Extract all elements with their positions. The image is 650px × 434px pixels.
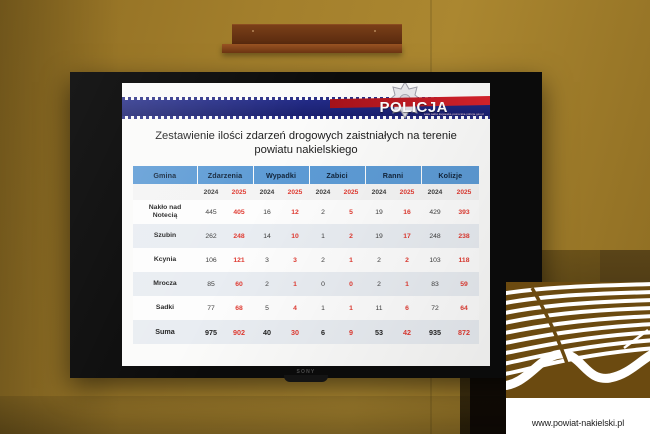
row-label-gmina: Sadki [133, 296, 197, 320]
cell-ranni_2024: 2 [365, 248, 393, 272]
cell-wypadki_2024: 2 [253, 272, 281, 296]
cell-kolizje_2025: 393 [449, 200, 479, 224]
col-header-gmina: Gmina [133, 166, 197, 184]
cell-ranni_2025: 2 [393, 248, 421, 272]
year-header-ranni-2024: 2024 [365, 184, 393, 200]
table-row: Mrocza85602100218359 [133, 272, 479, 296]
wall-mounted-television: POLICJA www.nakto.kujawsko-pomorska.poli… [70, 72, 542, 378]
cell-wypadki_2024: 14 [253, 224, 281, 248]
tv-mount-foot [284, 375, 328, 382]
cell-zdarzenia_2024: 445 [197, 200, 225, 224]
watermark-url: www.powiat-nakielski.pl [506, 418, 650, 428]
cell-kolizje_2024: 83 [421, 272, 449, 296]
shelf-screw-left [252, 30, 254, 32]
slide-title-line-1: Zestawienie ilości zdarzeń drogowych zai… [140, 129, 472, 143]
cell-kolizje_2024: 72 [421, 296, 449, 320]
powiat-nakielski-wave-logo [506, 282, 650, 398]
col-header-ranni: Ranni [365, 166, 421, 184]
cell-zabici_2024: 0 [309, 272, 337, 296]
cell-kolizje_2025: 872 [449, 320, 479, 344]
cell-kolizje_2024: 103 [421, 248, 449, 272]
shelf-lip [222, 44, 402, 53]
cell-zdarzenia_2025: 405 [225, 200, 253, 224]
year-header-zabici-2025: 2025 [337, 184, 365, 200]
cell-kolizje_2025: 118 [449, 248, 479, 272]
cell-kolizje_2024: 935 [421, 320, 449, 344]
cell-ranni_2025: 42 [393, 320, 421, 344]
cell-kolizje_2024: 429 [421, 200, 449, 224]
row-label-gmina: Suma [133, 320, 197, 344]
cell-wypadki_2024: 5 [253, 296, 281, 320]
table-row: Szubin2622481410121917248238 [133, 224, 479, 248]
cell-zabici_2025: 5 [337, 200, 365, 224]
policja-website-subtitle: www.nakto.kujawsko-pomorska.policja.gov.… [424, 113, 484, 116]
year-header-zdarzenia-2024: 2024 [197, 184, 225, 200]
cell-ranni_2025: 6 [393, 296, 421, 320]
cell-zdarzenia_2025: 121 [225, 248, 253, 272]
cell-kolizje_2024: 248 [421, 224, 449, 248]
cell-zabici_2025: 1 [337, 248, 365, 272]
cell-zdarzenia_2024: 262 [197, 224, 225, 248]
cell-zdarzenia_2024: 77 [197, 296, 225, 320]
cell-wypadki_2024: 16 [253, 200, 281, 224]
col-header-wypadki: Wypadki [253, 166, 309, 184]
banner-dotted-edge-bottom [122, 116, 490, 119]
year-header-ranni-2025: 2025 [393, 184, 421, 200]
table-year-header-row: 2024 2025 2024 2025 2024 2025 2024 2025 … [133, 184, 479, 200]
slide-title-line-2: powiatu nakielskiego [140, 143, 472, 157]
year-header-zdarzenia-2025: 2025 [225, 184, 253, 200]
cell-kolizje_2025: 238 [449, 224, 479, 248]
col-header-zabici: Zabici [309, 166, 365, 184]
year-header-blank [133, 184, 197, 200]
cell-zdarzenia_2024: 975 [197, 320, 225, 344]
presentation-slide: POLICJA www.nakto.kujawsko-pomorska.poli… [122, 83, 490, 366]
year-header-wypadki-2024: 2024 [253, 184, 281, 200]
cell-zabici_2024: 2 [309, 248, 337, 272]
table-row: Nakło nadNotecią4454051612251916429393 [133, 200, 479, 224]
slide-title: Zestawienie ilości zdarzeń drogowych zai… [140, 129, 472, 157]
cell-zabici_2024: 1 [309, 224, 337, 248]
col-header-kolizje: Kolizje [421, 166, 479, 184]
shelf-screw-right [374, 30, 376, 32]
cell-zabici_2024: 2 [309, 200, 337, 224]
watermark-logo-block: www.powiat-nakielski.pl [506, 282, 650, 434]
year-header-zabici-2024: 2024 [309, 184, 337, 200]
col-header-zdarzenia: Zdarzenia [197, 166, 253, 184]
incidents-table: Gmina Zdarzenia Wypadki Zabici Ranni Kol… [133, 166, 479, 344]
cell-ranni_2025: 16 [393, 200, 421, 224]
year-header-kolizje-2025: 2025 [449, 184, 479, 200]
cell-wypadki_2025: 10 [281, 224, 309, 248]
cell-wypadki_2025: 4 [281, 296, 309, 320]
cell-ranni_2025: 1 [393, 272, 421, 296]
cell-zabici_2025: 1 [337, 296, 365, 320]
cell-ranni_2024: 53 [365, 320, 393, 344]
cell-kolizje_2025: 59 [449, 272, 479, 296]
year-header-wypadki-2025: 2025 [281, 184, 309, 200]
row-label-gmina: Szubin [133, 224, 197, 248]
cell-wypadki_2025: 3 [281, 248, 309, 272]
cell-zabici_2025: 0 [337, 272, 365, 296]
tv-screen: POLICJA www.nakto.kujawsko-pomorska.poli… [122, 83, 490, 366]
cell-wypadki_2025: 1 [281, 272, 309, 296]
cell-wypadki_2025: 30 [281, 320, 309, 344]
cell-zabici_2025: 9 [337, 320, 365, 344]
cell-kolizje_2025: 64 [449, 296, 479, 320]
table-row: Kcynia106121332122103118 [133, 248, 479, 272]
cell-zabici_2024: 1 [309, 296, 337, 320]
cell-zabici_2024: 6 [309, 320, 337, 344]
cell-ranni_2024: 19 [365, 200, 393, 224]
cell-zdarzenia_2025: 68 [225, 296, 253, 320]
cell-ranni_2025: 17 [393, 224, 421, 248]
row-label-gmina: Mrocza [133, 272, 197, 296]
table-row: Suma9759024030695342935872 [133, 320, 479, 344]
cell-zdarzenia_2024: 85 [197, 272, 225, 296]
cell-ranni_2024: 19 [365, 224, 393, 248]
cell-zdarzenia_2025: 248 [225, 224, 253, 248]
cell-zdarzenia_2025: 902 [225, 320, 253, 344]
cell-ranni_2024: 2 [365, 272, 393, 296]
table-group-header-row: Gmina Zdarzenia Wypadki Zabici Ranni Kol… [133, 166, 479, 184]
cell-wypadki_2024: 40 [253, 320, 281, 344]
cell-zdarzenia_2025: 60 [225, 272, 253, 296]
cell-zabici_2025: 2 [337, 224, 365, 248]
year-header-kolizje-2024: 2024 [421, 184, 449, 200]
cell-wypadki_2024: 3 [253, 248, 281, 272]
table-body: Nakło nadNotecią4454051612251916429393Sz… [133, 200, 479, 344]
cell-zdarzenia_2024: 106 [197, 248, 225, 272]
table-row: Sadki776854111167264 [133, 296, 479, 320]
cell-ranni_2024: 11 [365, 296, 393, 320]
wooden-wall-shelf [222, 24, 402, 56]
photo-scene: POLICJA www.nakto.kujawsko-pomorska.poli… [0, 0, 650, 434]
cell-wypadki_2025: 12 [281, 200, 309, 224]
row-label-gmina: Nakło nadNotecią [133, 200, 197, 224]
row-label-gmina: Kcynia [133, 248, 197, 272]
